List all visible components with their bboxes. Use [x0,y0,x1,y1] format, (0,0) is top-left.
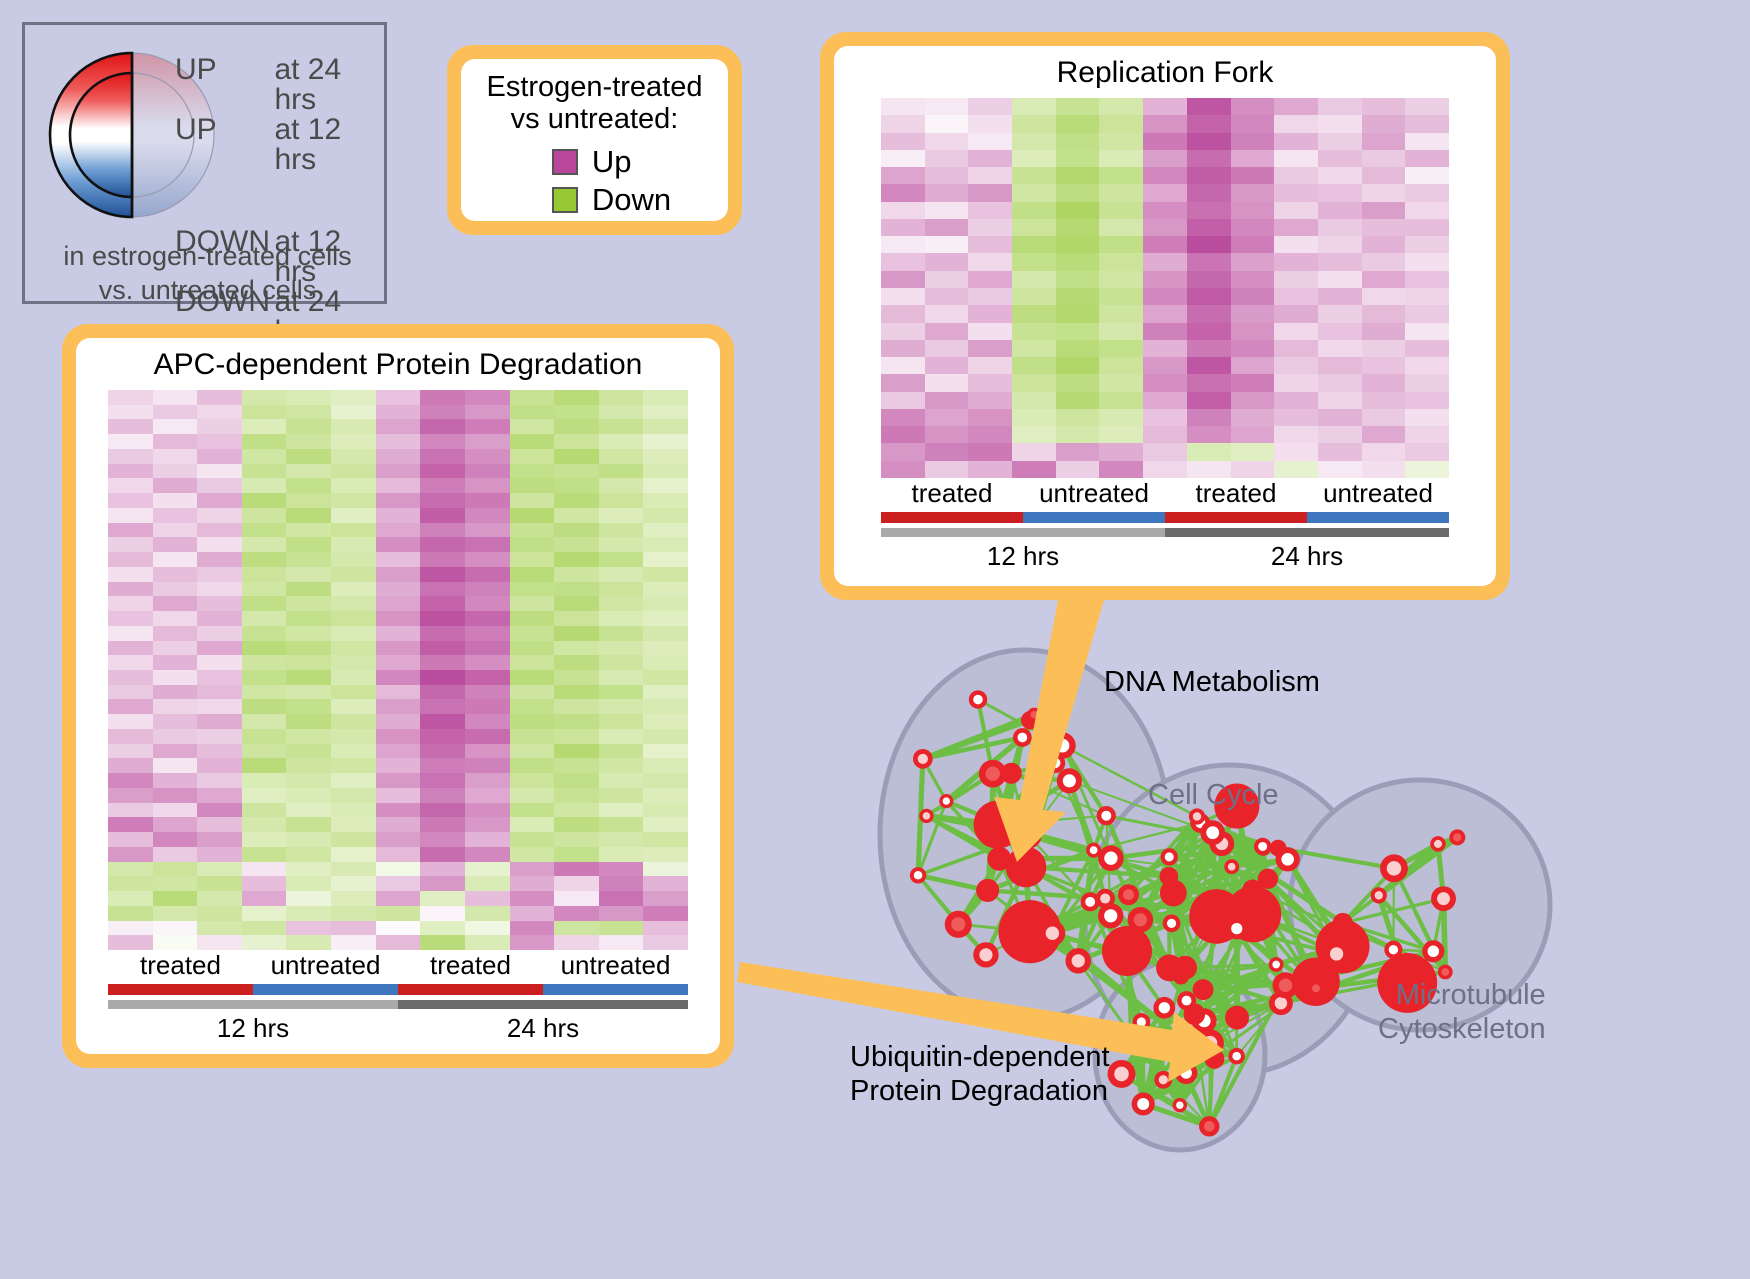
network-node[interactable] [1153,997,1175,1019]
heatmap-cell [197,670,242,685]
heatmap-cell [331,847,376,862]
heatmap-cell [1231,98,1275,115]
heatmap-cell [599,803,644,818]
heatmap-cell [554,567,599,582]
heatmap-cell [599,523,644,538]
network-node[interactable] [1045,753,1065,773]
node-inner-fill [1272,961,1280,969]
node-inner-fill [914,871,923,880]
heatmap-cell [1231,409,1275,426]
heatmap-cell [1099,271,1143,288]
node-inner-fill [1312,984,1320,992]
heatmap-cell [554,847,599,862]
network-node[interactable] [945,911,972,938]
heatmap-cell [286,552,331,567]
network-node[interactable] [1098,845,1124,871]
network-node[interactable] [1308,981,1323,996]
heatmap-cell [242,419,287,434]
network-node[interactable] [1118,884,1139,905]
heatmap-cell [643,670,688,685]
node-inner-fill [1104,852,1117,865]
heatmap-cell [242,935,287,950]
heatmap-cell [1318,305,1362,322]
node-inner-fill [1126,1039,1137,1050]
network-node[interactable] [1225,1006,1249,1030]
heatmap-cell [1274,271,1318,288]
network-node[interactable] [1200,820,1225,845]
heatmap-cell [331,832,376,847]
network-node[interactable] [1160,880,1187,907]
heatmap-cell [465,685,510,700]
network-node[interactable] [1449,829,1465,845]
heatmap-cell [197,449,242,464]
network-node[interactable] [910,867,926,883]
pathway-network-diagram [790,615,1750,1279]
node-inner-fill [1134,913,1147,926]
heatmap-cell [599,626,644,641]
heatmap-cell [1056,133,1100,150]
node-inner-fill [1279,978,1293,992]
heatmap-cell [420,655,465,670]
heatmap-cell [643,714,688,729]
heatmap-cell [465,788,510,803]
heatmap-cell [1012,167,1056,184]
heatmap-cell [465,493,510,508]
heatmap-cell [331,788,376,803]
heatmap-cell [153,567,198,582]
heatmap-cell [197,817,242,832]
heatmap-cell [599,419,644,434]
network-node[interactable] [1269,957,1284,972]
heatmap-cell [376,935,421,950]
heatmap-cell [1405,98,1449,115]
heatmap-cell [1143,236,1187,253]
heatmap-cell [465,478,510,493]
heatmap-cell [242,567,287,582]
heatmap-cell [108,390,153,405]
heatmap-cell [286,847,331,862]
node-inner-fill [1114,1067,1129,1082]
heatmap-cell [554,434,599,449]
node-inner-fill [918,754,928,764]
heatmap-cell [465,641,510,656]
heatmap-cell [1231,219,1275,236]
heatmap-cell [643,478,688,493]
heatmap-cell [108,508,153,523]
network-node[interactable] [973,942,998,967]
network-node[interactable] [1161,848,1178,865]
heatmap-cell [1362,253,1406,270]
heatmap-cell [1405,374,1449,391]
heatmap-cell [420,390,465,405]
colorscale-legend-box: UP at 24 hrs UP at 12 hrs DOWN at 12 hrs… [22,22,387,304]
heatmap-cell [153,552,198,567]
heatmap-cell [643,744,688,759]
heatmap-cell [465,449,510,464]
heatmap-cell [1362,426,1406,443]
heatmap-cell [153,788,198,803]
network-node[interactable] [1273,972,1299,998]
network-node[interactable] [1175,1062,1197,1084]
network-node[interactable] [1422,940,1444,962]
heatmap-cell [1012,426,1056,443]
network-node[interactable] [1006,847,1047,888]
updown-key-panel: Estrogen-treated vs untreated: Up Down [447,45,742,235]
network-node[interactable] [1380,854,1408,882]
heatmap-cell [242,596,287,611]
heatmap-cell [1056,426,1100,443]
heatmap-cell [968,392,1012,409]
heatmap-cell [1056,340,1100,357]
heatmap-cell [1405,443,1449,460]
heatmap-cell [643,803,688,818]
heatmap-cell [1362,219,1406,236]
replication-fork-heatmap [881,98,1449,478]
heatmap-cell [331,758,376,773]
heatmap-cell [554,685,599,700]
heatmap-cell [242,803,287,818]
network-node[interactable] [939,794,953,808]
apc-heatmap [108,390,688,950]
network-node[interactable] [1154,1071,1172,1089]
network-node[interactable] [987,847,1011,871]
heatmap-cell [1231,340,1275,357]
heatmap-cell [197,744,242,759]
heatmap-cell [376,567,421,582]
network-node[interactable] [1027,708,1041,722]
heatmap-cell [1362,461,1406,478]
network-node[interactable] [976,879,999,902]
network-node[interactable] [1431,886,1456,911]
heatmap-cell [242,508,287,523]
heatmap-cell [510,493,555,508]
network-node[interactable] [919,809,933,823]
network-node[interactable] [1177,1033,1193,1049]
heatmap-cell [599,935,644,950]
network-node[interactable] [1242,880,1263,901]
heatmap-cell [1274,133,1318,150]
heatmap-cell [286,434,331,449]
heatmap-cell [1143,357,1187,374]
heatmap-cell [1231,236,1275,253]
heatmap-cell [1099,340,1143,357]
heatmap-cell [331,921,376,936]
node-inner-fill [1206,826,1219,839]
heatmap-cell [286,537,331,552]
heatmap-cell [286,685,331,700]
heatmap-cell [376,788,421,803]
heatmap-cell [1405,392,1449,409]
node-inner-fill [1232,1052,1241,1061]
heatmap-cell [1274,409,1318,426]
heatmap-cell [510,596,555,611]
axis-group-label: untreated [253,950,398,984]
network-node[interactable] [1156,954,1183,981]
network-node[interactable] [1098,903,1123,928]
heatmap-cell [331,685,376,700]
heatmap-cell [1405,202,1449,219]
network-node[interactable] [1228,1048,1244,1064]
heatmap-cell [510,935,555,950]
heatmap-cell [1231,443,1275,460]
heatmap-cell [420,744,465,759]
heatmap-cell [1405,323,1449,340]
heatmap-cell [108,641,153,656]
heatmap-cell [465,405,510,420]
node-inner-fill [1258,842,1267,851]
network-node[interactable] [1013,728,1032,747]
heatmap-cell [465,758,510,773]
network-node[interactable] [1384,941,1402,959]
heatmap-cell [510,862,555,877]
heatmap-cell [554,523,599,538]
heatmap-cell [1056,115,1100,132]
heatmap-cell [242,891,287,906]
heatmap-cell [420,817,465,832]
network-node[interactable] [1039,920,1065,946]
heatmap-cell [1274,443,1318,460]
network-node[interactable] [913,749,933,769]
heatmap-cell [925,133,969,150]
heatmap-cell [968,98,1012,115]
heatmap-cell [599,508,644,523]
heatmap-cell [1362,409,1406,426]
heatmap-cell [420,419,465,434]
heatmap-cell [242,817,287,832]
heatmap-cell [1056,202,1100,219]
network-node[interactable] [1371,887,1387,903]
axis-time-label: 12 hrs [108,1009,398,1044]
network-node[interactable] [974,801,1022,849]
heatmap-cell [599,906,644,921]
heatmap-cell [1143,98,1187,115]
heatmap-cell [643,906,688,921]
heatmap-cell [286,862,331,877]
heatmap-cell [242,611,287,626]
heatmap-cell [1012,115,1056,132]
network-node[interactable] [1163,914,1181,932]
network-node[interactable] [1102,926,1152,976]
node-outer-ring [1242,880,1263,901]
heatmap-cell [465,537,510,552]
network-node[interactable] [1270,840,1287,857]
heatmap-cell [1099,115,1143,132]
heatmap-cell [1099,305,1143,322]
heatmap-cell [968,133,1012,150]
network-node[interactable] [1057,768,1082,793]
heatmap-cell [1143,305,1187,322]
node-inner-fill [1193,812,1201,820]
heatmap-cell [1143,253,1187,270]
heatmap-cell [197,847,242,862]
network-node[interactable] [1001,763,1022,784]
heatmap-cell [242,788,287,803]
heatmap-cell [510,508,555,523]
heatmap-cell [108,773,153,788]
replication-fork-axis: treated untreated treated untreated 12 h [881,478,1449,572]
heatmap-cell [108,862,153,877]
node-inner-fill [943,797,950,804]
heatmap-cell [108,611,153,626]
heatmap-cell [1056,98,1100,115]
heatmap-cell [242,685,287,700]
network-node[interactable] [1121,1034,1141,1054]
heatmap-cell [286,935,331,950]
heatmap-cell [599,434,644,449]
heatmap-cell [643,567,688,582]
heatmap-cell [153,714,198,729]
heatmap-cell [153,699,198,714]
network-node[interactable] [1226,918,1248,940]
network-node[interactable] [1324,941,1350,967]
heatmap-cell [465,714,510,729]
heatmap-cell [1362,305,1406,322]
heatmap-cell [968,167,1012,184]
heatmap-cell [1318,202,1362,219]
heatmap-cell [510,434,555,449]
node-outer-ring [1102,926,1152,976]
heatmap-cell [968,409,1012,426]
legend-spacer [175,175,385,227]
heatmap-cell [420,921,465,936]
heatmap-cell [510,552,555,567]
heatmap-cell [108,523,153,538]
heatmap-cell [1143,443,1187,460]
heatmap-cell [153,596,198,611]
heatmap-cell [1143,271,1187,288]
heatmap-cell [554,803,599,818]
heatmap-cell [599,537,644,552]
network-node[interactable] [1173,1098,1187,1112]
network-node[interactable] [1430,836,1445,851]
network-node[interactable] [1254,838,1271,855]
network-node[interactable] [1199,1116,1219,1136]
heatmap-cell [968,374,1012,391]
heatmap-cell [1405,409,1449,426]
heatmap-cell [465,847,510,862]
heatmap-cell [286,803,331,818]
heatmap-cell [376,906,421,921]
heatmap-cell [643,641,688,656]
network-node[interactable] [1177,991,1196,1010]
heatmap-cell [197,567,242,582]
heatmap-cell [465,508,510,523]
heatmap-cell [465,419,510,434]
heatmap-cell [1187,392,1231,409]
heatmap-cell [153,419,198,434]
heatmap-cell [881,357,925,374]
heatmap-cell [331,935,376,950]
heatmap-cell [1143,409,1187,426]
network-node[interactable] [1193,979,1214,1000]
network-node[interactable] [1224,859,1239,874]
heatmap-cell [1318,150,1362,167]
network-node[interactable] [1132,1013,1150,1031]
heatmap-cell [510,537,555,552]
heatmap-cell [1318,253,1362,270]
heatmap-cell [376,921,421,936]
heatmap-cell [331,862,376,877]
heatmap-cell [1056,167,1100,184]
heatmap-cell [1318,115,1362,132]
heatmap-cell [554,699,599,714]
heatmap-cell [465,464,510,479]
heatmap-cell [108,699,153,714]
network-node[interactable] [1108,1060,1136,1088]
heatmap-cell [1231,374,1275,391]
heatmap-cell [925,167,969,184]
heatmap-cell [242,582,287,597]
heatmap-cell [197,552,242,567]
heatmap-cell [643,596,688,611]
heatmap-cell [510,685,555,700]
heatmap-cell [1012,219,1056,236]
node-inner-fill [1165,852,1174,861]
heatmap-cell [465,596,510,611]
axis-group-label: treated [108,950,253,984]
untreated-bar [1307,512,1449,523]
heatmap-cell [1362,340,1406,357]
network-node[interactable] [1132,1092,1155,1115]
heatmap-cell [1231,357,1275,374]
heatmap-cell [1318,461,1362,478]
heatmap-cell [925,323,969,340]
heatmap-cell [1274,98,1318,115]
heatmap-cell [599,582,644,597]
heatmap-cell [1274,167,1318,184]
heatmap-cell [1056,374,1100,391]
heatmap-cell [465,803,510,818]
heatmap-cell [465,729,510,744]
node-inner-fill [1090,846,1098,854]
heatmap-cell [643,862,688,877]
heatmap-cell [1056,323,1100,340]
network-node[interactable] [1086,843,1101,858]
heatmap-cell [968,184,1012,201]
heatmap-cell [1362,392,1406,409]
heatmap-cell [599,847,644,862]
heatmap-cell [1099,253,1143,270]
network-node[interactable] [1065,948,1091,974]
network-node[interactable] [969,690,987,708]
heatmap-cell [643,464,688,479]
heatmap-cell [420,434,465,449]
heatmap-cell [331,567,376,582]
heatmap-cell [1187,426,1231,443]
heatmap-cell [554,817,599,832]
network-node[interactable] [1097,806,1116,825]
figure-canvas: UP at 24 hrs UP at 12 hrs DOWN at 12 hrs… [0,0,1750,1279]
heatmap-cell [286,699,331,714]
heatmap-cell [599,552,644,567]
heatmap-cell [881,323,925,340]
time-bar-24hrs [398,1000,688,1009]
heatmap-cell [599,670,644,685]
heatmap-cell [420,567,465,582]
network-node[interactable] [1333,913,1353,933]
node-inner-fill [1375,891,1383,899]
heatmap-cell [1405,219,1449,236]
untreated-bar [253,984,398,995]
network-node[interactable] [1015,822,1042,849]
node-inner-fill [1168,1042,1177,1051]
heatmap-cell [1362,236,1406,253]
heatmap-cell [925,288,969,305]
network-node[interactable] [1205,1049,1225,1069]
heatmap-cell [331,699,376,714]
heatmap-cell [925,426,969,443]
heatmap-cell [242,537,287,552]
